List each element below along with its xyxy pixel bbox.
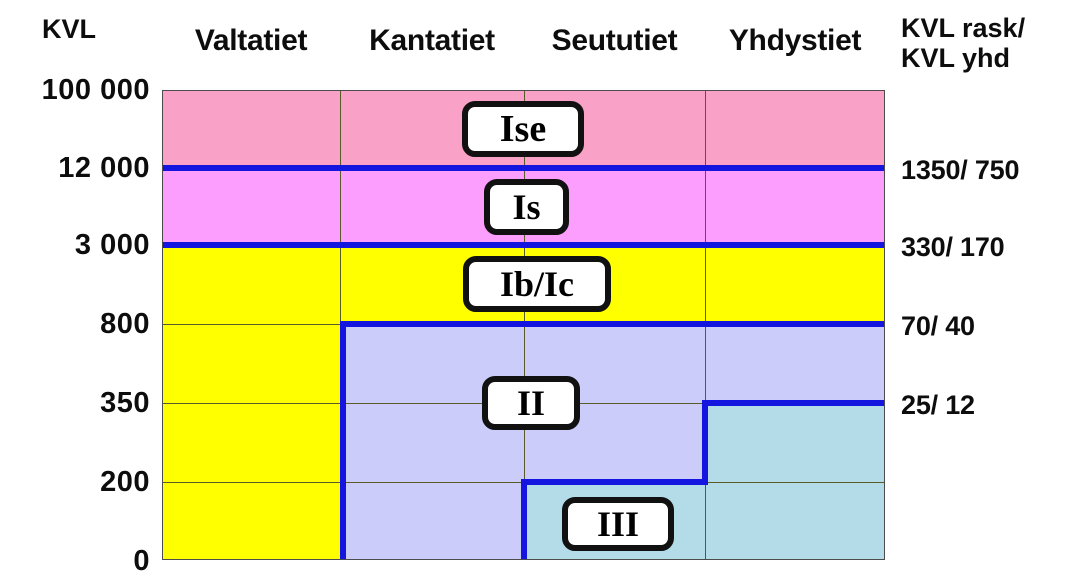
plot-area: Ise Is Ib/Ic II III — [162, 90, 885, 560]
boundary-valtatiet-edge — [340, 321, 346, 560]
boundary-seututiet-step — [521, 479, 527, 560]
class-label-iii: III — [562, 497, 674, 551]
kvl-road-class-chart: KVL Valtatiet Kantatiet Seututiet Yhdyst… — [0, 0, 1088, 586]
class-label-ise: Ise — [462, 101, 584, 157]
column-header-valtatiet: Valtatiet — [162, 24, 340, 58]
boundary-3000 — [162, 242, 885, 248]
column-header-yhdystiet: Yhdystiet — [705, 24, 885, 58]
y-tick-0: 0 — [0, 545, 150, 578]
column-header-kantatiet: Kantatiet — [340, 24, 524, 58]
boundary-800 — [340, 321, 885, 327]
right-tick-70-40: 70/ 40 — [901, 311, 975, 342]
region-ib-ic-valtatiet — [162, 324, 340, 560]
right-axis-title-line2: KVL yhd — [901, 44, 1010, 73]
y-tick-200: 200 — [0, 466, 150, 499]
right-axis-title-line1: KVL rask/ — [901, 14, 1025, 43]
boundary-350-yhdystiet — [705, 400, 885, 406]
right-tick-330-170: 330/ 170 — [901, 232, 1005, 263]
boundary-12000 — [162, 165, 885, 171]
region-ii-kantatiet — [340, 324, 524, 560]
y-tick-800: 800 — [0, 308, 150, 341]
class-label-ib-ic: Ib/Ic — [463, 256, 611, 312]
right-tick-25-12: 25/ 12 — [901, 390, 975, 421]
y-tick-12000: 12 000 — [0, 152, 150, 185]
boundary-yhdystiet-step — [702, 400, 708, 485]
right-tick-1350-750: 1350/ 750 — [901, 155, 1019, 186]
column-header-seututiet: Seututiet — [524, 24, 705, 58]
y-tick-3000: 3 000 — [0, 229, 150, 262]
boundary-200-seututiet — [524, 479, 705, 485]
region-ii-yhdystiet — [705, 324, 885, 403]
y-tick-350: 350 — [0, 387, 150, 420]
y-tick-100000: 100 000 — [0, 74, 150, 107]
class-label-ii: II — [482, 376, 580, 430]
y-axis-title: KVL — [42, 14, 96, 45]
class-label-is: Is — [484, 179, 569, 235]
